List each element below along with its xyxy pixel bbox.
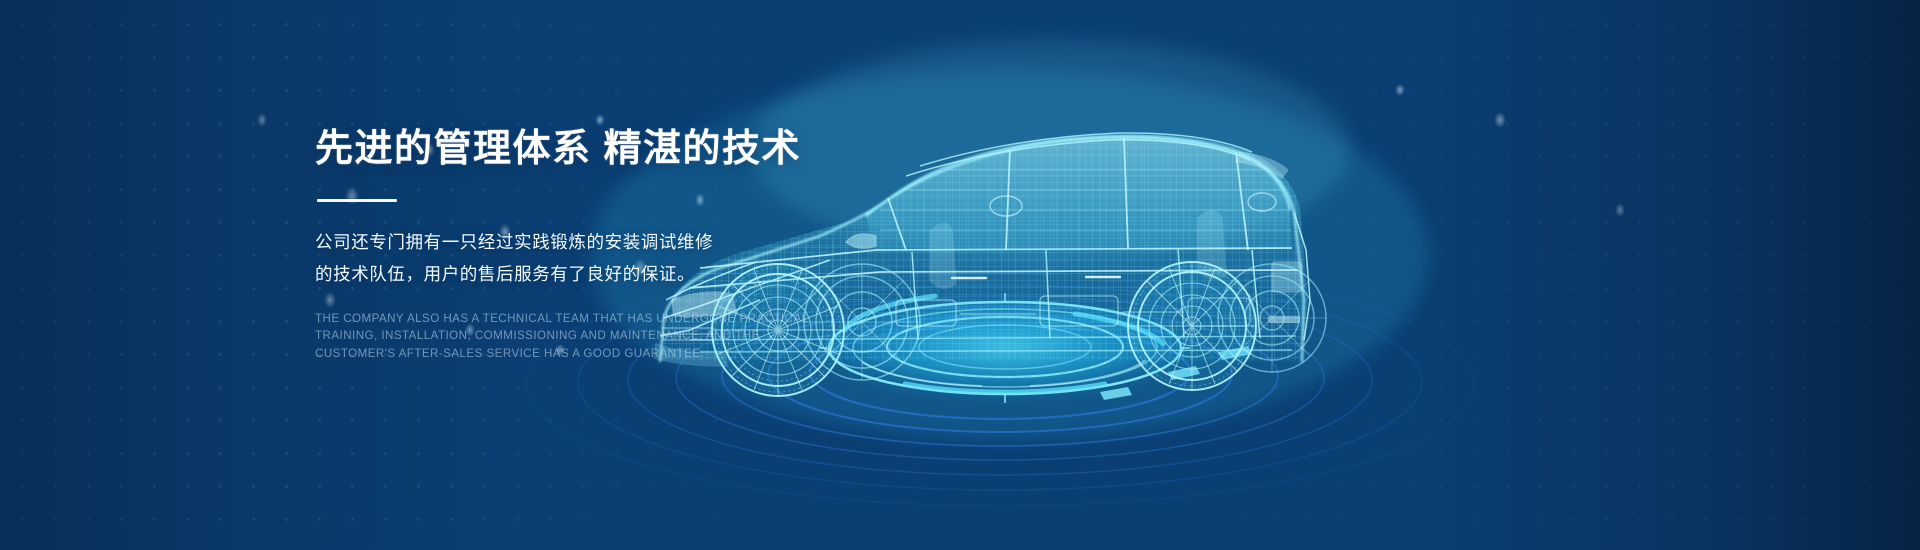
subtext-line: CUSTOMER'S AFTER-SALES SERVICE HAS A GOO…	[315, 345, 955, 363]
subtext-line: THE COMPANY ALSO HAS A TECHNICAL TEAM TH…	[315, 310, 955, 328]
lede-line: 的技术队伍，用户的售后服务有了良好的保证。	[315, 258, 955, 290]
bokeh-sparkles	[0, 0, 1920, 550]
rear-wheel-far	[1218, 264, 1326, 372]
rear-wheel	[1126, 262, 1258, 390]
title-divider	[317, 199, 397, 202]
page-title: 先进的管理体系 精湛的技术	[315, 128, 955, 172]
wireframe-suv-artwork	[0, 0, 1920, 550]
lede-line: 公司还专门拥有一只经过实践锻炼的安装调试维修	[315, 226, 955, 258]
dot-grid-pattern	[0, 0, 1920, 550]
subtext-paragraph: THE COMPANY ALSO HAS A TECHNICAL TEAM TH…	[315, 310, 955, 363]
hero-banner: 先进的管理体系 精湛的技术 公司还专门拥有一只经过实践锻炼的安装调试维修 的技术…	[0, 0, 1920, 550]
banner-copy: 先进的管理体系 精湛的技术 公司还专门拥有一只经过实践锻炼的安装调试维修 的技术…	[315, 128, 955, 362]
subtext-line: TRAINING, INSTALLATION, COMMISSIONING AN…	[315, 327, 955, 345]
lede-paragraph: 公司还专门拥有一只经过实践锻炼的安装调试维修 的技术队伍，用户的售后服务有了良好…	[315, 226, 955, 290]
